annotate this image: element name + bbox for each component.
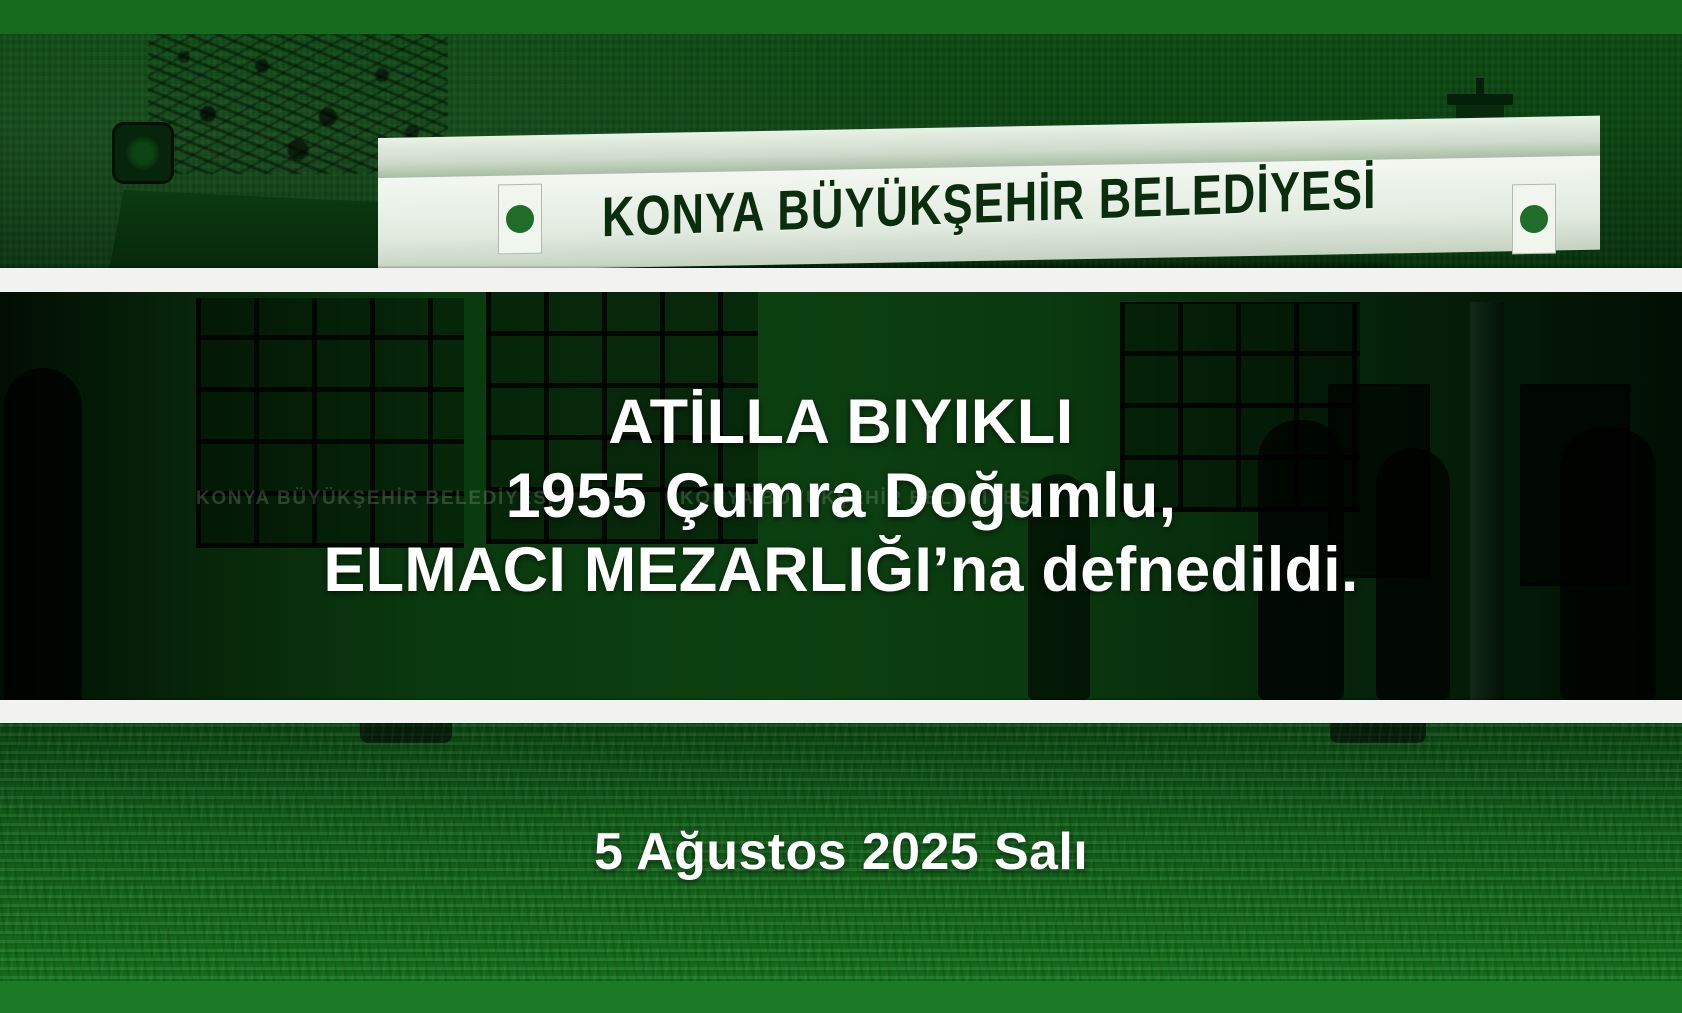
municipality-crest-left-icon	[498, 184, 542, 255]
date-block: 5 Ağustos 2025 Salı	[0, 723, 1682, 981]
bottom-green-strip	[0, 981, 1682, 1013]
headline-line-birth: 1955 Çumra Doğumlu,	[506, 462, 1177, 530]
divider-top	[0, 268, 1682, 292]
headline-line-name: ATİLLA BIYIKLI	[608, 388, 1073, 456]
headline-block: ATİLLA BIYIKLI 1955 Çumra Doğumlu, ELMAC…	[0, 292, 1682, 700]
divider-bottom	[0, 700, 1682, 723]
crest-emblem	[1522, 207, 1546, 231]
top-green-strip	[0, 0, 1682, 34]
municipality-crest-right-icon	[1512, 184, 1556, 255]
headline-line-burial: ELMACI MEZARLIĞI’na defnedildi.	[323, 536, 1358, 604]
coffin-catafalque: KONYA BÜYÜKŞEHİR BELEDİYESİ	[100, 138, 1600, 268]
date-text: 5 Ağustos 2025 Salı	[594, 822, 1088, 882]
coffin-label-text: KONYA BÜYÜKŞEHİR BELEDİYESİ	[602, 155, 1377, 249]
coffin-photo-band: KONYA BÜYÜKŞEHİR BELEDİYESİ	[0, 34, 1682, 268]
coffin-pedestal	[106, 190, 406, 268]
obituary-poster: KONYA BÜYÜKŞEHİR BELEDİYESİ KONYA BÜYÜKŞ…	[0, 0, 1682, 1013]
coffin-body: KONYA BÜYÜKŞEHİR BELEDİYESİ	[378, 156, 1600, 268]
crest-emblem	[508, 207, 532, 231]
